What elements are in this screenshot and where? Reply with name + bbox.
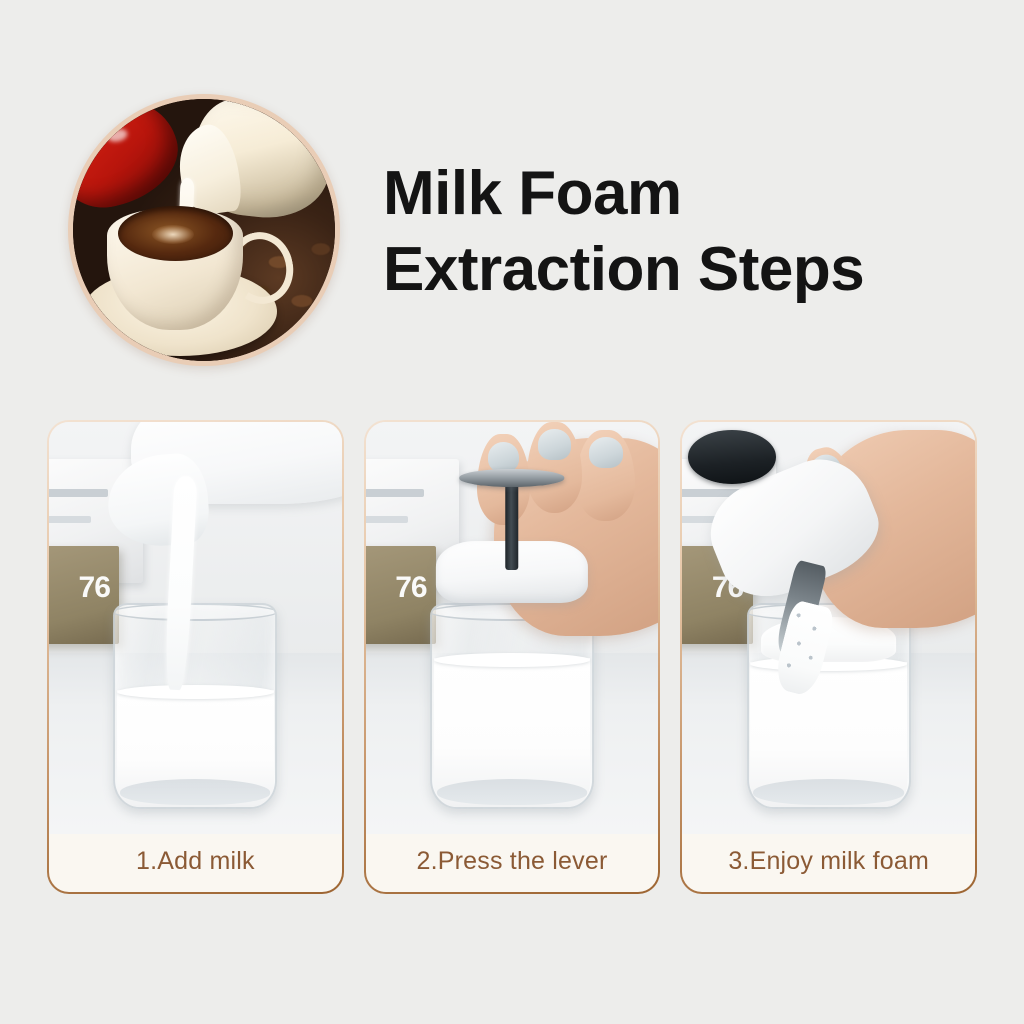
glass-rim	[113, 603, 277, 621]
steps-container: 76 1.Add milk	[47, 420, 977, 894]
page-title: Milk Foam Extraction Steps	[383, 156, 963, 308]
fingernail	[589, 437, 623, 468]
glass-base	[754, 779, 904, 805]
box-marking-label: 76	[79, 571, 110, 605]
step-3-photo: 76	[682, 422, 975, 834]
scene-1: 76	[49, 422, 342, 834]
fingernail	[538, 429, 570, 460]
step-2-photo: 76	[366, 422, 659, 834]
product-box-khaki: 76	[49, 546, 119, 645]
milk-surface	[434, 653, 591, 667]
finger-1	[576, 430, 635, 521]
glass-tumbler	[113, 603, 277, 809]
box-marking-label: 76	[395, 571, 426, 605]
step-1-photo: 76	[49, 422, 342, 834]
title-line-1: Milk Foam	[383, 156, 963, 232]
coffee-surface	[118, 206, 233, 261]
glass-base	[437, 779, 587, 805]
glass-base	[120, 779, 270, 805]
step-card-3[interactable]: 76 3.Enjoy m	[680, 420, 977, 894]
step-card-1[interactable]: 76 1.Add milk	[47, 420, 344, 894]
hero-coffee-photo	[68, 94, 340, 366]
step-1-caption: 1.Add milk	[49, 830, 342, 892]
product-box-khaki: 76	[366, 546, 436, 645]
title-line-2: Extraction Steps	[383, 232, 963, 308]
milk-surface	[117, 685, 274, 699]
plunger-rod	[505, 480, 518, 571]
step-card-2[interactable]: 76	[364, 420, 661, 894]
scene-2: 76	[366, 422, 659, 834]
step-3-caption: 3.Enjoy milk foam	[682, 830, 975, 892]
scene-3: 76	[682, 422, 975, 834]
hero-photo-inner	[73, 99, 335, 361]
finger-2	[527, 422, 583, 513]
step-2-caption: 2.Press the lever	[366, 830, 659, 892]
plunger-cap	[688, 430, 776, 484]
fingernail	[488, 442, 519, 473]
hero-section: Milk Foam Extraction Steps	[0, 0, 1024, 400]
